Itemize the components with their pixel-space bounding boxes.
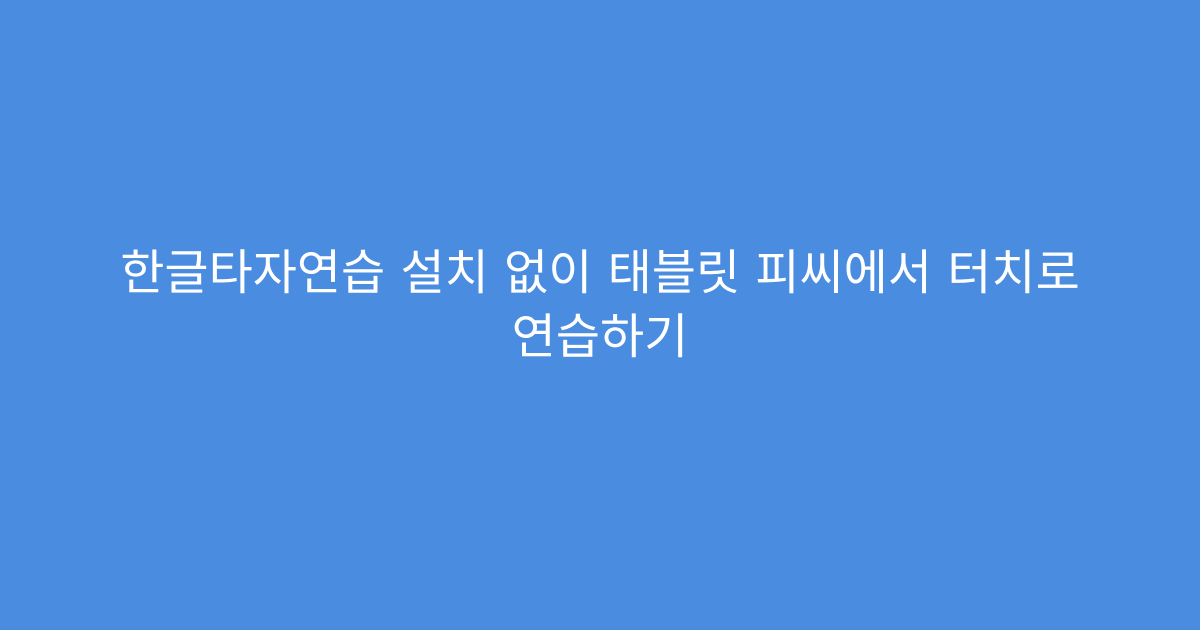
thumbnail-card: 한글타자연습 설치 없이 태블릿 피씨에서 터치로 연습하기 <box>0 0 1200 630</box>
page-title: 한글타자연습 설치 없이 태블릿 피씨에서 터치로 연습하기 <box>80 241 1120 369</box>
headline-block: 한글타자연습 설치 없이 태블릿 피씨에서 터치로 연습하기 <box>70 241 1130 369</box>
